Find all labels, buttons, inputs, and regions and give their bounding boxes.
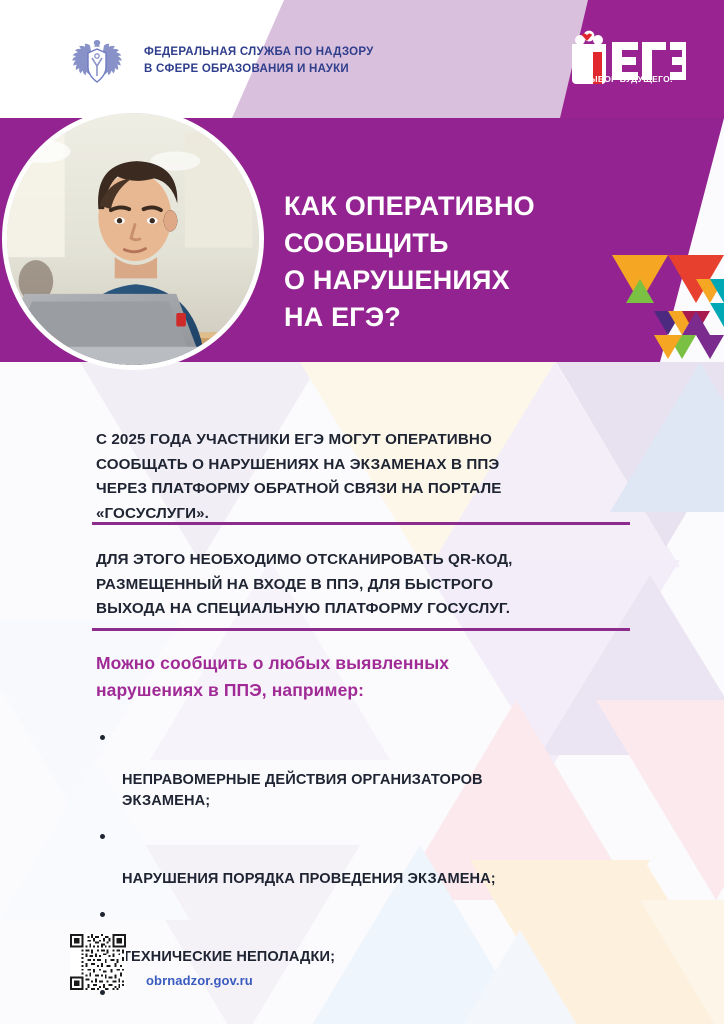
paragraph-1: С 2025 ГОДА УЧАСТНИКИ ЕГЭ МОГУТ ОПЕРАТИВ… <box>0 428 724 526</box>
website-url[interactable]: obrnadzor.gov.ru <box>146 973 253 990</box>
double-headed-eagle-emblem <box>62 36 132 88</box>
bullet-dot-icon <box>100 990 105 995</box>
bullet-dot-icon <box>100 735 105 740</box>
hero-title: КАК ОПЕРАТИВНО СООБЩИТЬ О НАРУШЕНИЯХ НА … <box>284 188 535 336</box>
paragraph-2: ДЛЯ ЭТОГО НЕОБХОДИМО ОТСКАНИРОВАТЬ QR-КО… <box>0 548 724 622</box>
list-item: НАРУШЕНИЯ ПОРЯДКА ПРОВЕДЕНИЯ ЭКЗАМЕНА; <box>96 827 628 890</box>
subheading: Можно сообщить о любых выявленных наруше… <box>0 650 724 704</box>
qr-code[interactable] <box>70 934 126 990</box>
poster: ФЕДЕРАЛЬНАЯ СЛУЖБА ПО НАДЗОРУ В СФЕРЕ ОБ… <box>0 0 724 1024</box>
bullet-dot-icon <box>100 912 105 917</box>
list-item-label: НЕПРАВОМЕРНЫЕ ДЕЙСТВИЯ ОРГАНИЗАТОРОВ ЭКЗ… <box>122 772 483 809</box>
bullet-dot-icon <box>100 834 105 839</box>
organization-name: ФЕДЕРАЛЬНАЯ СЛУЖБА ПО НАДЗОРУ В СФЕРЕ ОБ… <box>144 44 374 78</box>
decorative-triangle-mosaic <box>612 255 724 367</box>
list-item-label: НАРУШЕНИЯ ПОРЯДКА ПРОВЕДЕНИЯ ЭКЗАМЕНА; <box>122 871 496 887</box>
list-item: НЕПРАВОМЕРНЫЕ ДЕЙСТВИЯ ОРГАНИЗАТОРОВ ЭКЗ… <box>96 728 628 812</box>
ege-tagline: ВЫБОР БУДУЩЕГО! <box>563 74 693 84</box>
footer: obrnadzor.gov.ru <box>70 934 253 990</box>
divider-1 <box>92 522 630 525</box>
divider-2 <box>92 628 630 631</box>
student-with-laptop-photo <box>2 108 264 370</box>
